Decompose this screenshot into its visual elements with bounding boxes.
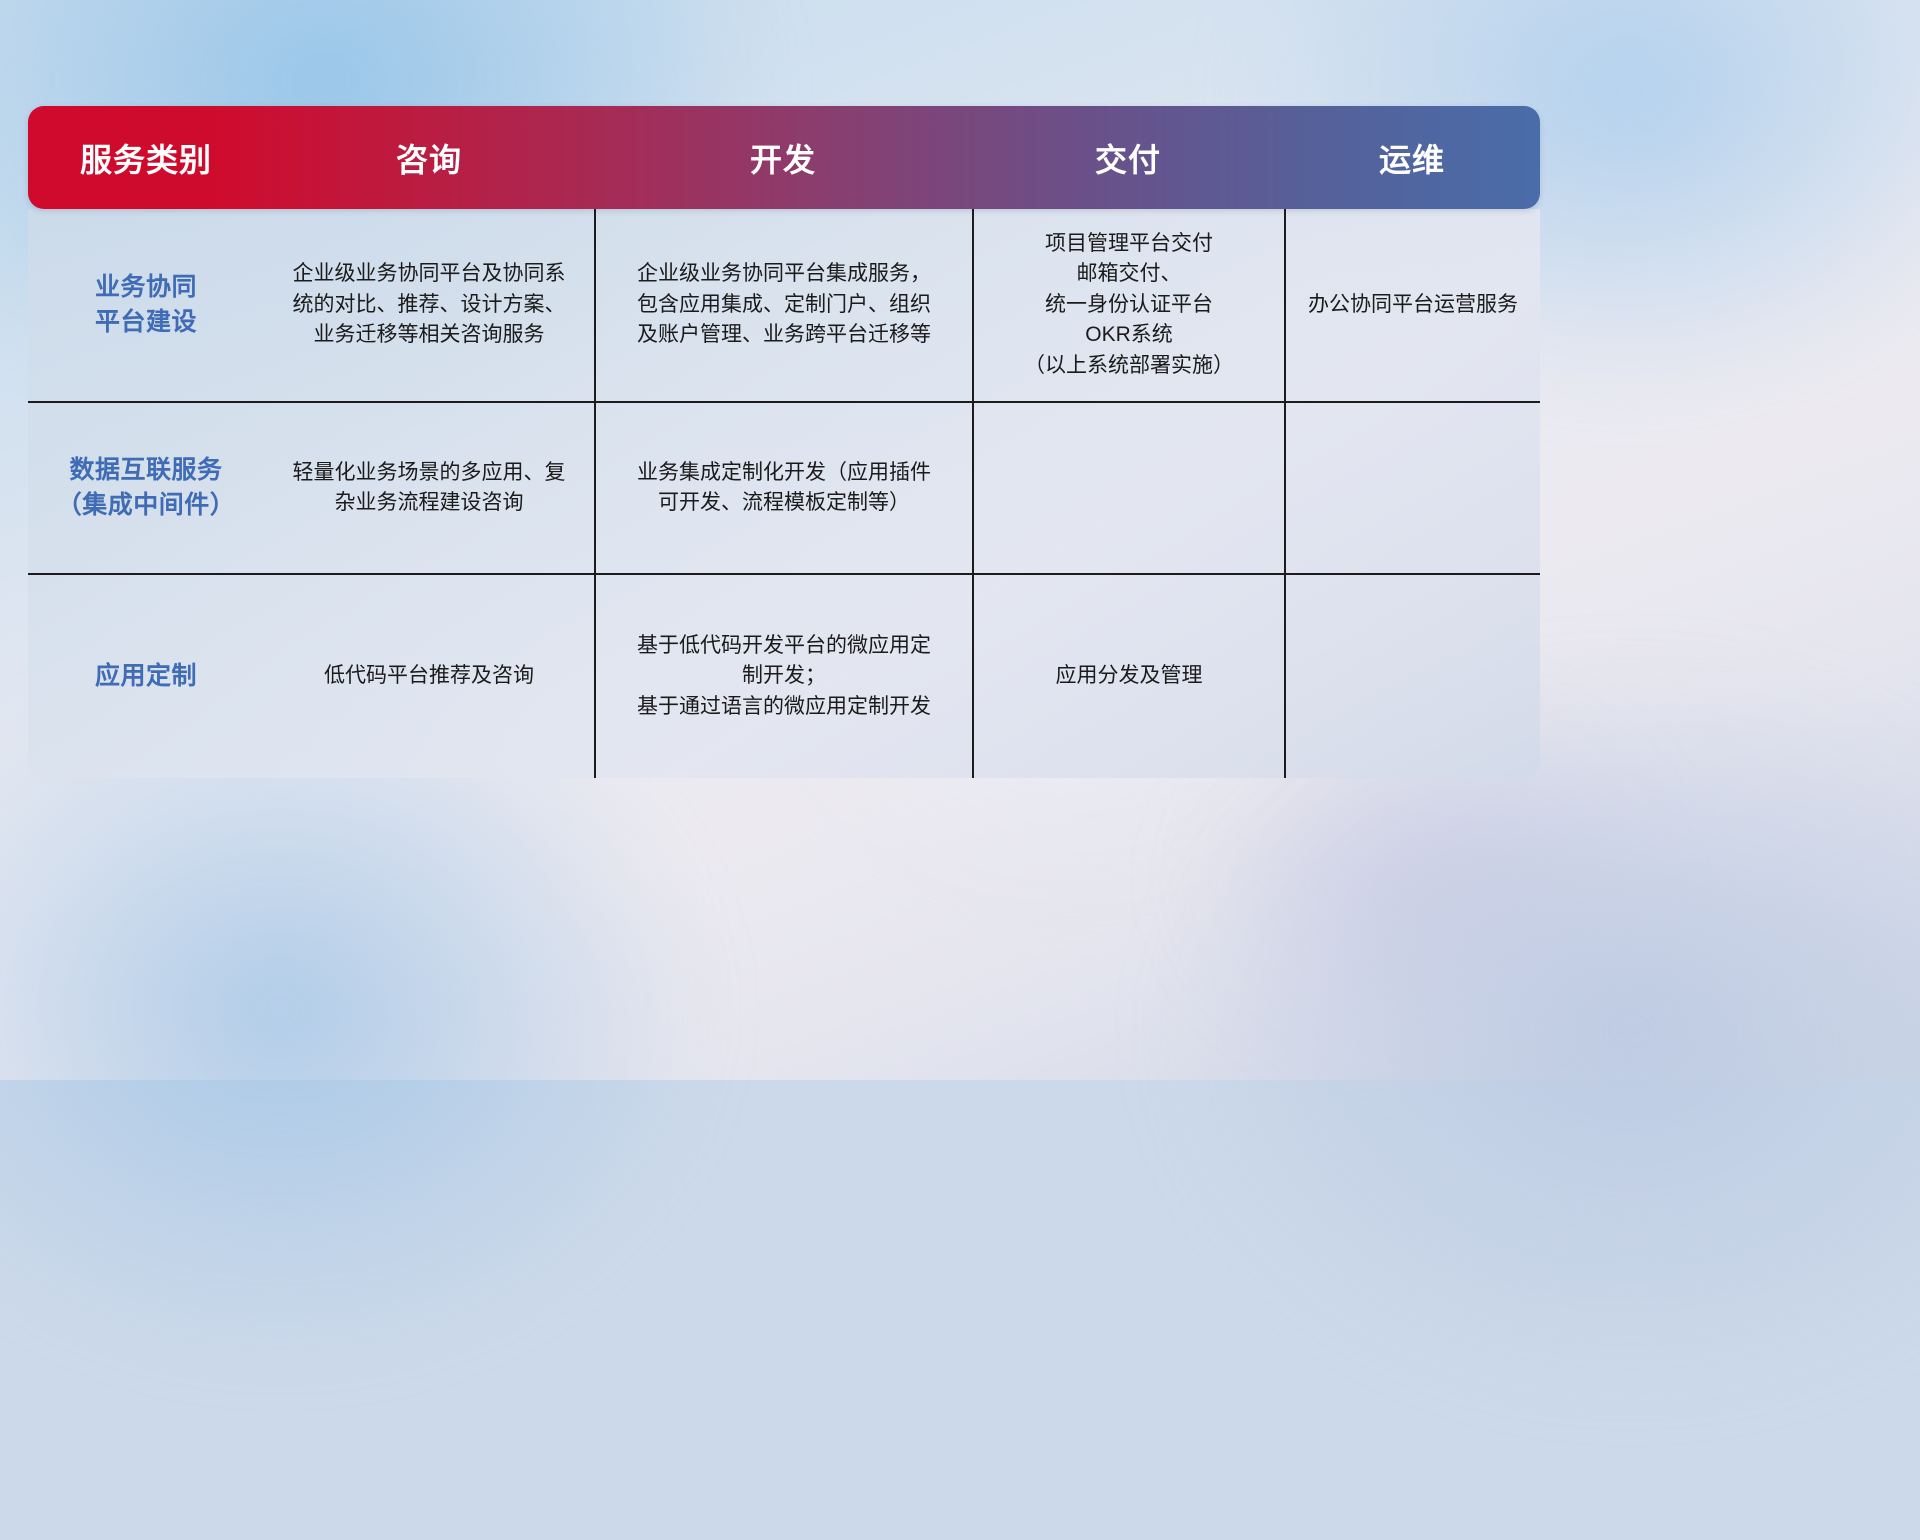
table-row: 应用定制 低代码平台推荐及咨询 基于低代码开发平台的微应用定 制开发； 基于通过… (28, 573, 1540, 778)
cell-operations (1284, 403, 1540, 573)
cell-delivery: 项目管理平台交付 邮箱交付、 统一身份认证平台 OKR系统 （以上系统部署实施） (972, 209, 1284, 401)
table-header-row: 服务类别 咨询 开发 交付 运维 (28, 106, 1540, 209)
cell-operations (1284, 575, 1540, 778)
column-header-development: 开发 (594, 106, 972, 209)
cell-operations: 办公协同平台运营服务 (1284, 209, 1540, 401)
cell-development: 业务集成定制化开发（应用插件 可开发、流程模板定制等） (594, 403, 972, 573)
row-category-label: 应用定制 (28, 575, 264, 778)
row-category-label: 数据互联服务 （集成中间件） (28, 403, 264, 573)
cell-consulting: 轻量化业务场景的多应用、复 杂业务流程建设咨询 (264, 403, 594, 573)
table-row: 业务协同 平台建设 企业级业务协同平台及协同系 统的对比、推荐、设计方案、 业务… (28, 209, 1540, 401)
column-header-category: 服务类别 (28, 106, 264, 209)
cell-consulting: 企业级业务协同平台及协同系 统的对比、推荐、设计方案、 业务迁移等相关咨询服务 (264, 209, 594, 401)
row-category-label: 业务协同 平台建设 (28, 209, 264, 401)
service-matrix-table: 服务类别 咨询 开发 交付 运维 业务协同 平台建设 企业级业务协同平台及协同系… (28, 106, 1540, 778)
cell-development: 基于低代码开发平台的微应用定 制开发； 基于通过语言的微应用定制开发 (594, 575, 972, 778)
column-header-delivery: 交付 (972, 106, 1284, 209)
cell-delivery: 应用分发及管理 (972, 575, 1284, 778)
cell-delivery (972, 403, 1284, 573)
column-header-consulting: 咨询 (264, 106, 594, 209)
table-row: 数据互联服务 （集成中间件） 轻量化业务场景的多应用、复 杂业务流程建设咨询 业… (28, 401, 1540, 573)
cell-consulting: 低代码平台推荐及咨询 (264, 575, 594, 778)
cell-development: 企业级业务协同平台集成服务， 包含应用集成、定制门户、组织 及账户管理、业务跨平… (594, 209, 972, 401)
column-header-operations: 运维 (1284, 106, 1540, 209)
